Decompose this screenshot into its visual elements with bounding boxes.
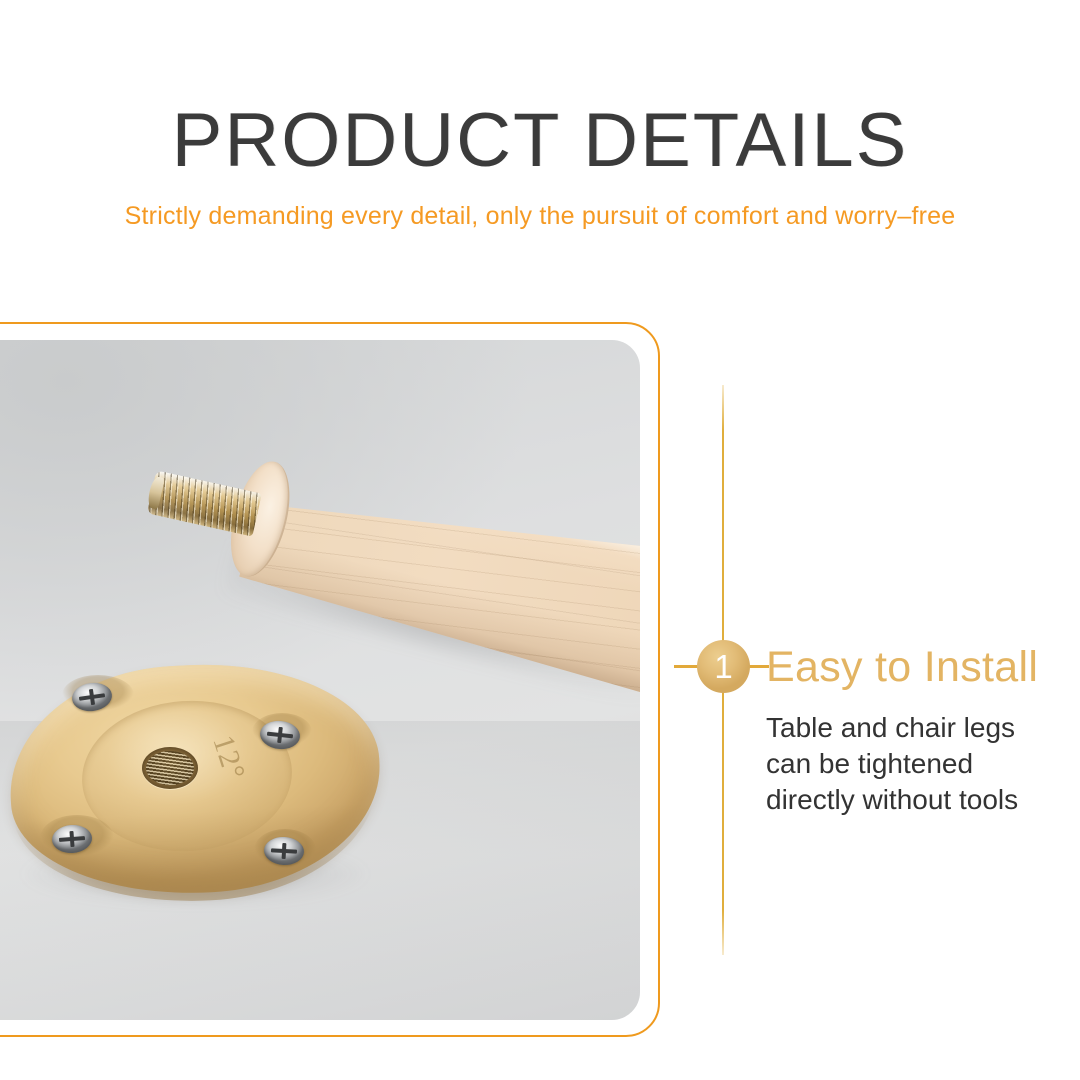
- threaded-bolt: [147, 470, 262, 536]
- feature-description-line: Table and chair legs: [766, 710, 1080, 746]
- mounting-plate: 12°: [10, 665, 380, 915]
- plate-center-threads: [146, 751, 194, 785]
- feature-connector-stub-left: [674, 665, 698, 668]
- feature-description-line: directly without tools: [766, 782, 1080, 818]
- screw-slot: [271, 848, 297, 853]
- leg-wood-grain: [236, 443, 640, 697]
- feature-description-line: can be tightened: [766, 746, 1080, 782]
- page-title: PRODUCT DETAILS: [0, 99, 1080, 183]
- feature-heading: Easy to Install: [766, 643, 1038, 691]
- page-subtitle: Strictly demanding every detail, only th…: [0, 200, 1080, 232]
- feature-number-badge: 1: [697, 640, 750, 693]
- feature-description: Table and chair legs can be tightened di…: [766, 710, 1080, 818]
- bolt-threads: [147, 470, 262, 536]
- product-photo: 12°: [0, 340, 640, 1020]
- wooden-table-leg: [203, 434, 640, 697]
